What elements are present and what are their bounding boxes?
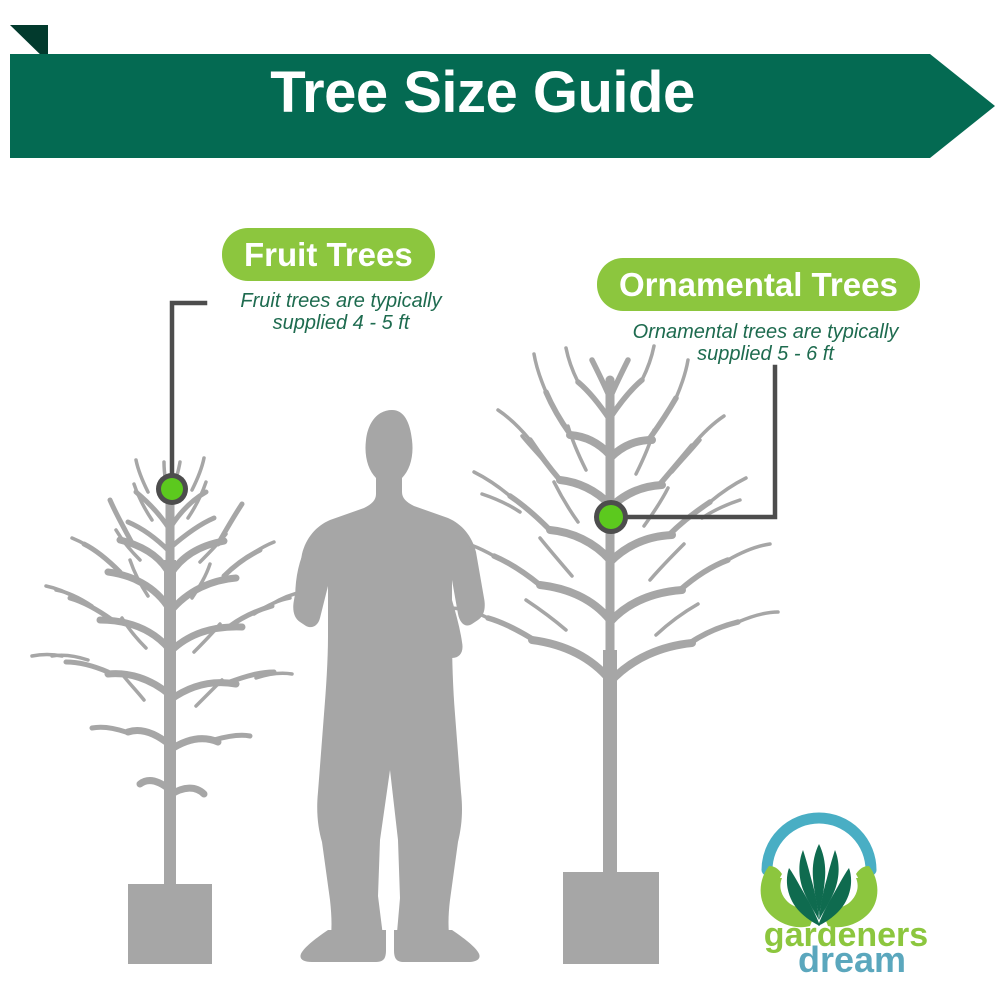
ornamental-height-marker xyxy=(594,500,628,534)
fruit-height-marker xyxy=(156,473,188,505)
fruit-tree xyxy=(32,458,302,885)
ornamental-marker-dot xyxy=(599,505,623,529)
ornamental-tree xyxy=(448,346,778,890)
badge-ornamental-trees[interactable]: Ornamental Trees xyxy=(597,258,920,311)
fruit-marker-dot xyxy=(161,478,183,500)
ornamental-tree-pot xyxy=(563,872,659,964)
tree-size-guide-infographic: Tree Size Guide xyxy=(0,0,1000,1000)
caption-ornamental-trees: Ornamental trees are typically supplied … xyxy=(588,321,943,365)
logo-svg: gardeners dream xyxy=(748,806,944,974)
gardeners-dream-logo[interactable]: gardeners dream xyxy=(748,806,944,974)
badge-fruit-trees[interactable]: Fruit Trees xyxy=(222,228,435,281)
fruit-tree-pot xyxy=(128,884,212,964)
person-silhouette xyxy=(293,410,485,962)
ornamental-tree-trunk xyxy=(603,650,617,890)
caption-fruit-trees: Fruit trees are typically supplied 4 - 5… xyxy=(196,290,486,334)
logo-word-dream: dream xyxy=(798,939,906,974)
